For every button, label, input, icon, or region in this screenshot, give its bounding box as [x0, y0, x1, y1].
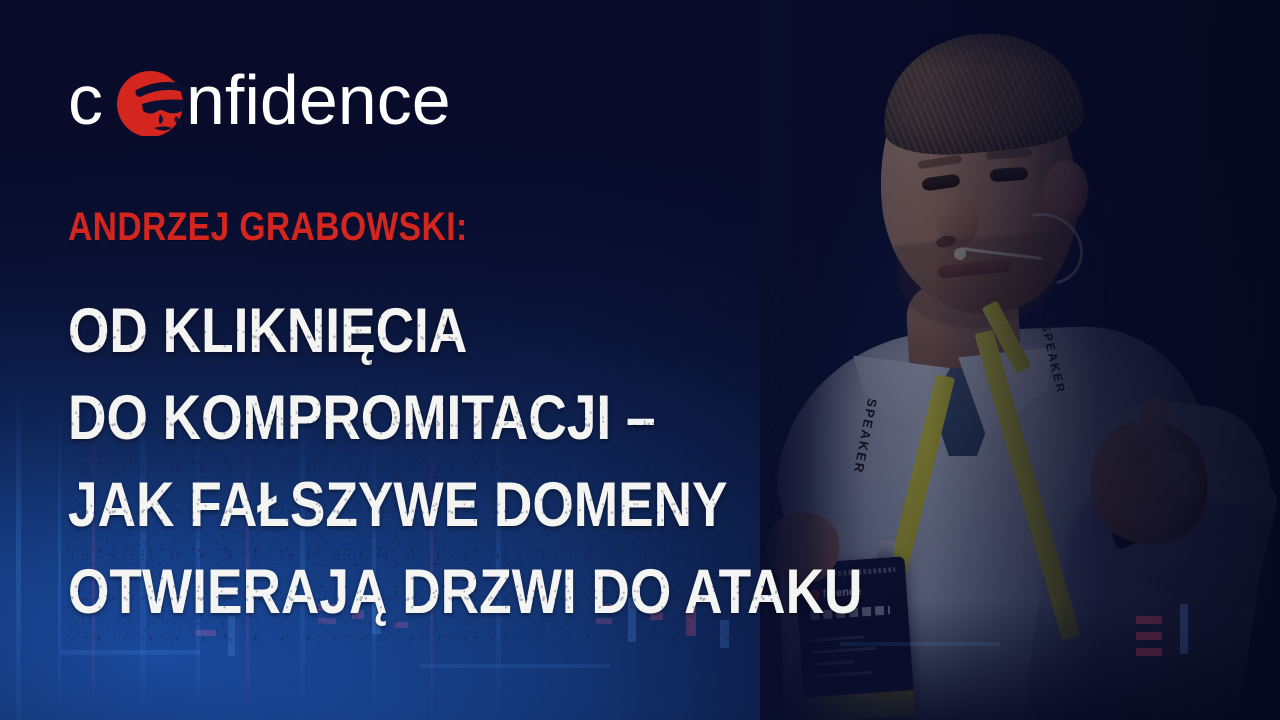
talk-title: OD KLIKNIĘCIA DO KOMPROMITACJI – JAK FAŁ…: [68, 288, 908, 636]
speaker-name: ANDRZEJ GRABOWSKI:: [68, 207, 468, 247]
confidence-logo[interactable]: c nfidence: [68, 68, 478, 136]
title-line-1: OD KLIKNIĘCIA: [68, 288, 778, 375]
talk-thumbnail: SPEAKER SPEAKER fidence: [0, 0, 1280, 720]
title-line-3: JAK FAŁSZYWE DOMENY: [68, 462, 778, 549]
title-line-4: OTWIERAJĄ DRZWI DO ATAKU: [68, 549, 778, 636]
svg-text:c: c: [68, 68, 103, 136]
title-line-2: DO KOMPROMITACJI –: [68, 375, 778, 462]
svg-text:nfidence: nfidence: [186, 68, 451, 136]
